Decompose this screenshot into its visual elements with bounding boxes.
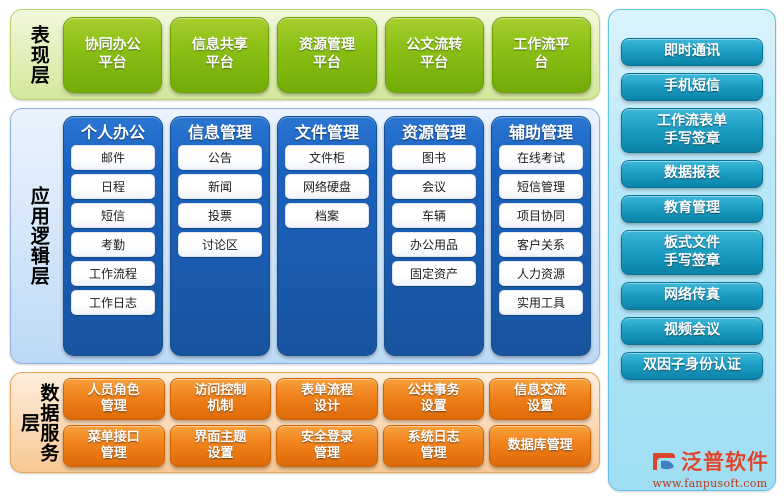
list-item[interactable]: 档案 xyxy=(285,203,369,228)
presentation-item-information-sharing[interactable]: 信息共享 平台 xyxy=(170,17,269,93)
presentation-item-resource-management[interactable]: 资源管理 平台 xyxy=(277,17,376,93)
application-column-auxiliary-management: 辅助管理 在线考试 短信管理 项目协同 客户关系 人力资源 实用工具 xyxy=(491,116,591,356)
application-layer-panel: 应用逻辑层 个人办公 邮件 日程 短信 考勤 工作流程 工作日志 信息管理 公告… xyxy=(10,108,600,364)
list-item[interactable]: 固定资产 xyxy=(392,261,476,286)
presentation-item-collaborative-office[interactable]: 协同办公 平台 xyxy=(63,17,162,93)
data-item-information-exchange-settings[interactable]: 信息交流 设置 xyxy=(489,378,591,420)
list-item[interactable]: 车辆 xyxy=(392,203,476,228)
presentation-item-workflow-platform[interactable]: 工作流平 台 xyxy=(492,17,591,93)
list-item[interactable]: 图书 xyxy=(392,145,476,170)
list-item[interactable]: 短信管理 xyxy=(499,174,583,199)
column-title: 辅助管理 xyxy=(499,120,583,145)
module-workflow-form-handwritten-signature[interactable]: 工作流表单 手写签章 xyxy=(621,108,763,153)
application-layer-columns: 个人办公 邮件 日程 短信 考勤 工作流程 工作日志 信息管理 公告 新闻 投票… xyxy=(61,116,599,356)
list-item[interactable]: 讨论区 xyxy=(178,232,262,257)
column-title: 个人办公 xyxy=(71,120,155,145)
list-item[interactable]: 考勤 xyxy=(71,232,155,257)
data-item-ui-theme-settings[interactable]: 界面主题 设置 xyxy=(170,425,272,467)
data-item-access-control-mechanism[interactable]: 访问控制 机制 xyxy=(170,378,272,420)
module-network-fax[interactable]: 网络传真 xyxy=(621,282,763,310)
module-layout-file-handwritten-signature[interactable]: 板式文件 手写签章 xyxy=(621,230,763,275)
application-column-file-management: 文件管理 文件柜 网络硬盘 档案 xyxy=(277,116,377,356)
list-item[interactable]: 在线考试 xyxy=(499,145,583,170)
list-item[interactable]: 客户关系 xyxy=(499,232,583,257)
data-service-layer-items: 人员角色 管理 访问控制 机制 表单流程 设计 公共事务 设置 信息交流 设置 … xyxy=(61,378,599,467)
data-item-database-management[interactable]: 数据库管理 xyxy=(489,425,591,467)
column-title: 信息管理 xyxy=(178,120,262,145)
module-two-factor-authentication[interactable]: 双因子身份认证 xyxy=(621,352,763,380)
list-item[interactable]: 短信 xyxy=(71,203,155,228)
presentation-layer-panel: 表现层 协同办公 平台 信息共享 平台 资源管理 平台 公文流转 平台 工作流平… xyxy=(10,9,600,100)
list-item[interactable]: 办公用品 xyxy=(392,232,476,257)
list-item[interactable]: 投票 xyxy=(178,203,262,228)
data-item-public-affairs-settings[interactable]: 公共事务 设置 xyxy=(383,378,485,420)
presentation-item-document-circulation[interactable]: 公文流转 平台 xyxy=(385,17,484,93)
list-item[interactable]: 日程 xyxy=(71,174,155,199)
list-item[interactable]: 工作流程 xyxy=(71,261,155,286)
column-title: 文件管理 xyxy=(285,120,369,145)
list-item[interactable]: 实用工具 xyxy=(499,290,583,315)
data-item-personnel-role-management[interactable]: 人员角色 管理 xyxy=(63,378,165,420)
module-data-reports[interactable]: 数据报表 xyxy=(621,160,763,188)
data-item-secure-login-management[interactable]: 安全登录 管理 xyxy=(276,425,378,467)
module-video-conference[interactable]: 视频会议 xyxy=(621,317,763,345)
data-item-system-log-management[interactable]: 系统日志 管理 xyxy=(383,425,485,467)
module-education-management[interactable]: 教育管理 xyxy=(621,195,763,223)
list-item[interactable]: 项目协同 xyxy=(499,203,583,228)
presentation-layer-label: 表现层 xyxy=(15,16,61,94)
data-service-layer-panel: 数据服务层 人员角色 管理 访问控制 机制 表单流程 设计 公共事务 设置 信息… xyxy=(10,372,600,473)
list-item[interactable]: 人力资源 xyxy=(499,261,583,286)
application-column-personal-office: 个人办公 邮件 日程 短信 考勤 工作流程 工作日志 xyxy=(63,116,163,356)
list-item[interactable]: 新闻 xyxy=(178,174,262,199)
data-item-form-process-design[interactable]: 表单流程 设计 xyxy=(276,378,378,420)
list-item[interactable]: 工作日志 xyxy=(71,290,155,315)
presentation-layer-items: 协同办公 平台 信息共享 平台 资源管理 平台 公文流转 平台 工作流平 台 xyxy=(61,17,599,93)
list-item[interactable]: 网络硬盘 xyxy=(285,174,369,199)
architecture-diagram: 表现层 协同办公 平台 信息共享 平台 资源管理 平台 公文流转 平台 工作流平… xyxy=(0,0,784,500)
list-item[interactable]: 公告 xyxy=(178,145,262,170)
application-column-information-management: 信息管理 公告 新闻 投票 讨论区 xyxy=(170,116,270,356)
application-column-resource-management: 资源管理 图书 会议 车辆 办公用品 固定资产 xyxy=(384,116,484,356)
extension-modules-panel: 即时通讯 手机短信 工作流表单 手写签章 数据报表 教育管理 板式文件 手写签章… xyxy=(608,9,776,491)
list-item[interactable]: 文件柜 xyxy=(285,145,369,170)
list-item[interactable]: 会议 xyxy=(392,174,476,199)
module-mobile-sms[interactable]: 手机短信 xyxy=(621,73,763,101)
data-item-menu-interface-management[interactable]: 菜单接口 管理 xyxy=(63,425,165,467)
module-instant-messaging[interactable]: 即时通讯 xyxy=(621,38,763,66)
application-layer-label: 应用逻辑层 xyxy=(15,161,61,311)
data-service-layer-label: 数据服务层 xyxy=(15,377,61,469)
list-item[interactable]: 邮件 xyxy=(71,145,155,170)
column-title: 资源管理 xyxy=(392,120,476,145)
